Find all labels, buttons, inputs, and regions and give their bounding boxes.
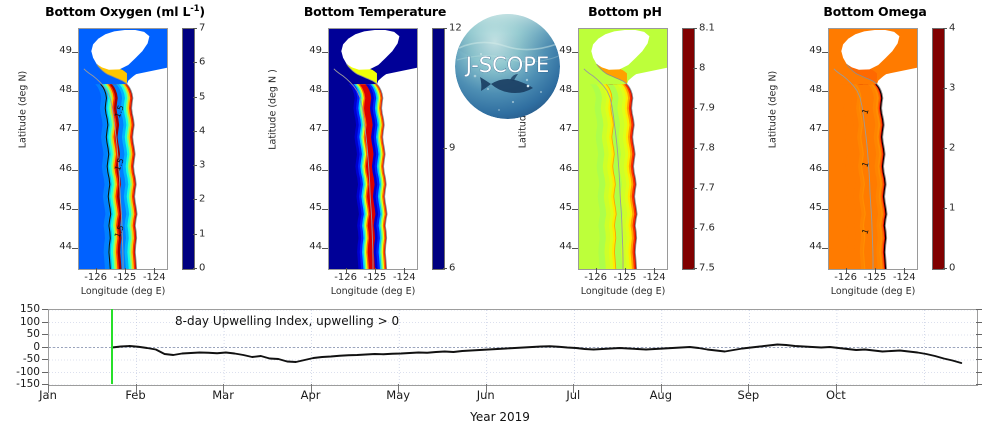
logo-artwork: J-SCOPE — [455, 14, 560, 119]
colorbar-tick — [693, 228, 697, 229]
colorbar-tick — [193, 28, 197, 29]
lat-tick — [72, 209, 78, 210]
lat-tick-label: 49 — [46, 45, 72, 56]
y-axis-title-temperature: Latitude (deg N ) — [268, 65, 279, 155]
x-axis-title-ph: Longitude (deg E) — [560, 286, 686, 297]
lat-tick-label: 44 — [296, 241, 322, 252]
lat-tick-label: 46 — [796, 163, 822, 174]
ts-y-tick — [42, 322, 48, 323]
colorbar-tick — [443, 148, 447, 149]
ts-x-tick-label: Aug — [636, 388, 686, 402]
panel-title-temperature: Bottom Temperature — [250, 4, 500, 19]
colorbar-tick-label: 7.5 — [699, 263, 715, 274]
lat-tick — [322, 248, 328, 249]
map-field-omega — [829, 29, 917, 269]
colorbar-tick — [943, 148, 947, 149]
colorbar-tick — [193, 131, 197, 132]
lat-tick-label: 46 — [296, 163, 322, 174]
lon-tick-label: -124 — [387, 272, 421, 283]
colorbar-tick — [693, 268, 697, 269]
lon-tick-label: -124 — [137, 272, 171, 283]
lat-tick-label: 48 — [46, 84, 72, 95]
lat-tick-label: 48 — [796, 84, 822, 95]
colorbar-tick — [193, 62, 197, 63]
colorbar-tick-label: 1 — [199, 228, 205, 239]
map-panel-omega: Bottom Omega111494847464544Latitude (deg… — [750, 0, 1000, 295]
colorbar-tick — [193, 234, 197, 235]
lat-tick — [72, 170, 78, 171]
ts-y-tick-right — [976, 322, 982, 323]
lat-tick — [822, 130, 828, 131]
colorbar-tick — [443, 28, 447, 29]
colorbar-tick — [443, 268, 447, 269]
lat-tick — [572, 130, 578, 131]
panel-title-ph: Bottom pH — [500, 4, 750, 19]
lat-tick-label: 46 — [546, 163, 572, 174]
colorbar-tick — [693, 188, 697, 189]
lat-tick-label: 45 — [546, 202, 572, 213]
ts-y-tick-label: -100 — [6, 366, 40, 378]
timeseries-caption: 8-day Upwelling Index, upwelling > 0 — [175, 314, 399, 328]
lat-tick — [322, 52, 328, 53]
colorbar-tick — [193, 97, 197, 98]
lat-tick — [822, 91, 828, 92]
lat-tick-label: 45 — [796, 202, 822, 213]
colorbar-temperature — [432, 28, 445, 270]
lat-tick — [72, 91, 78, 92]
lat-tick-label: 46 — [46, 163, 72, 174]
colorbar-tick-label: 0 — [949, 263, 955, 274]
lon-tick-label: -124 — [637, 272, 671, 283]
colorbar-omega — [932, 28, 945, 270]
colorbar-tick — [193, 199, 197, 200]
colorbar-tick-label: 7 — [199, 23, 205, 34]
map-field-temperature — [329, 29, 417, 269]
x-axis-title-temperature: Longitude (deg E) — [310, 286, 436, 297]
ts-x-tick-label: May — [373, 388, 423, 402]
colorbar-tick-label: 6 — [449, 263, 455, 274]
colorbar-tick-label: 7.7 — [699, 183, 715, 194]
lat-tick — [572, 209, 578, 210]
map-field-ph — [579, 29, 667, 269]
ts-x-tick-label: Sep — [723, 388, 773, 402]
upwelling-index-timeseries: 8-day Upwelling Index, upwelling > 0 Yea… — [0, 300, 1000, 432]
lat-tick — [822, 52, 828, 53]
ts-y-tick — [42, 359, 48, 360]
lat-tick-label: 44 — [796, 241, 822, 252]
lat-tick-label: 45 — [296, 202, 322, 213]
colorbar-tick — [943, 268, 947, 269]
lon-tick-label: -124 — [887, 272, 921, 283]
colorbar-tick — [693, 108, 697, 109]
map-temperature — [328, 28, 418, 270]
ts-y-tick — [42, 372, 48, 373]
lat-tick — [572, 52, 578, 53]
colorbar-tick — [943, 88, 947, 89]
colorbar-tick-label: 6 — [199, 57, 205, 68]
colorbar-tick-label: 5 — [199, 91, 205, 102]
forecast-start-marker — [111, 309, 113, 384]
x-axis-title-oxygen: Longitude (deg E) — [60, 286, 186, 297]
lat-tick — [322, 91, 328, 92]
colorbar-tick — [693, 148, 697, 149]
y-axis-title-omega: Latitude (deg N) — [768, 65, 779, 155]
lat-tick — [822, 209, 828, 210]
y-axis-title-oxygen: Latitude (deg N) — [18, 65, 29, 155]
map-panel-oxygen: Bottom Oxygen (ml L-1)1.51.51.5494847464… — [0, 0, 250, 295]
colorbar-tick — [193, 268, 197, 269]
colorbar-tick — [193, 165, 197, 166]
lat-tick-label: 47 — [296, 123, 322, 134]
ts-y-tick-label: 100 — [6, 316, 40, 328]
lat-tick — [572, 91, 578, 92]
colorbar-tick-label: 7.6 — [699, 223, 715, 234]
colorbar-tick-label: 3 — [199, 160, 205, 171]
lat-tick — [572, 170, 578, 171]
ts-x-tick-label: Jul — [548, 388, 598, 402]
x-axis-title-omega: Longitude (deg E) — [810, 286, 936, 297]
colorbar-tick-label: 4 — [949, 23, 955, 34]
ts-y-tick-label: 0 — [6, 341, 40, 353]
lat-tick-label: 44 — [546, 241, 572, 252]
map-omega — [828, 28, 918, 270]
lat-tick-label: 48 — [296, 84, 322, 95]
colorbar-tick-label: 8 — [699, 63, 705, 74]
lat-tick-label: 45 — [46, 202, 72, 213]
ts-y-tick-right — [976, 359, 982, 360]
ts-y-tick — [42, 334, 48, 335]
timeseries-x-axis-title: Year 2019 — [0, 410, 1000, 424]
colorbar-tick-label: 0 — [199, 263, 205, 274]
lat-tick — [822, 248, 828, 249]
lat-tick-label: 49 — [796, 45, 822, 56]
ts-x-tick-label: Apr — [286, 388, 336, 402]
lat-tick — [322, 130, 328, 131]
ts-y-tick — [42, 347, 48, 348]
colorbar-tick — [943, 208, 947, 209]
logo-text: J-SCOPE — [464, 53, 549, 77]
ts-x-tick-label: Jan — [23, 388, 73, 402]
j-scope-logo: J-SCOPE — [455, 14, 560, 119]
lat-tick — [572, 248, 578, 249]
lat-tick-label: 44 — [46, 241, 72, 252]
panel-title-omega: Bottom Omega — [750, 4, 1000, 19]
ts-y-tick-label: 50 — [6, 328, 40, 340]
ts-x-tick-label: Feb — [111, 388, 161, 402]
ts-y-tick-label: 150 — [6, 303, 40, 315]
colorbar-tick-label: 2 — [949, 143, 955, 154]
lat-tick — [322, 170, 328, 171]
ts-y-tick-label: -50 — [6, 353, 40, 365]
ts-x-tick-label: Mar — [198, 388, 248, 402]
colorbar-tick-label: 7.8 — [699, 143, 715, 154]
colorbar-tick-label: 8.1 — [699, 23, 715, 34]
ts-y-tick — [42, 309, 48, 310]
colorbar-tick-label: 7.9 — [699, 103, 715, 114]
j-scope-dashboard: Bottom Oxygen (ml L-1)1.51.51.5494847464… — [0, 0, 1000, 432]
ts-y-tick-right — [976, 372, 982, 373]
ts-x-tick-label: Oct — [811, 388, 861, 402]
ts-y-tick-right — [976, 334, 982, 335]
lat-tick — [322, 209, 328, 210]
lat-tick — [72, 52, 78, 53]
colorbar-tick — [693, 68, 697, 69]
panel-title-oxygen: Bottom Oxygen (ml L-1) — [0, 4, 250, 19]
lat-tick-label: 47 — [46, 123, 72, 134]
ts-y-tick-right — [976, 384, 982, 385]
lat-tick-label: 47 — [796, 123, 822, 134]
colorbar-tick — [693, 28, 697, 29]
lat-tick — [72, 248, 78, 249]
colorbar-tick-label: 9 — [449, 143, 455, 154]
lat-tick-label: 49 — [296, 45, 322, 56]
upwelling-index-line — [112, 345, 961, 364]
map-ph — [578, 28, 668, 270]
colorbar-tick-label: 4 — [199, 125, 205, 136]
colorbar-tick-label: 1 — [949, 203, 955, 214]
colorbar-tick — [943, 28, 947, 29]
colorbar-tick-label: 3 — [949, 83, 955, 94]
colorbar-tick-label: 2 — [199, 194, 205, 205]
colorbar-ph — [682, 28, 695, 270]
lat-tick-label: 47 — [546, 123, 572, 134]
ts-x-tick-label: Jun — [461, 388, 511, 402]
colorbar-tick-label: 12 — [449, 23, 462, 34]
lat-tick — [822, 170, 828, 171]
lat-tick — [72, 130, 78, 131]
ts-y-tick-right — [976, 347, 982, 348]
ts-y-tick-right — [976, 309, 982, 310]
